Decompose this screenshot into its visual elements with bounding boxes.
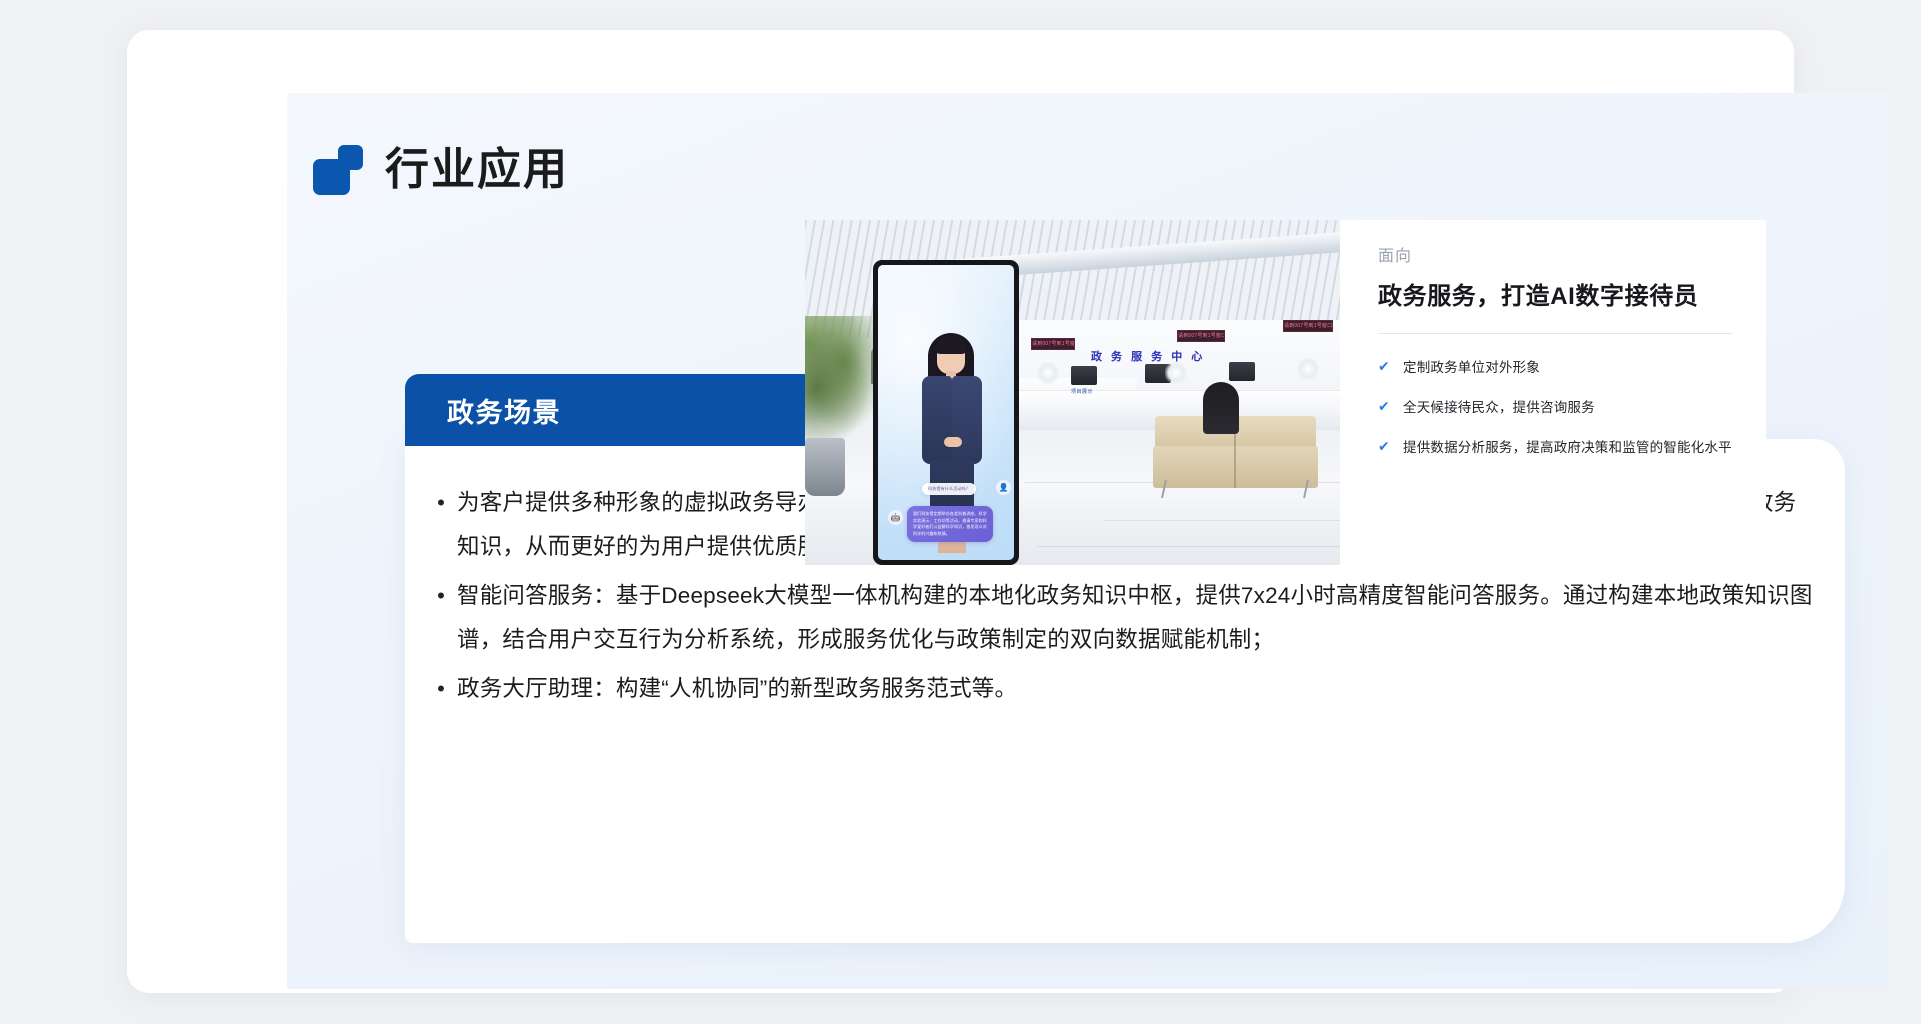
list-item: ✔ 提供数据分析服务，提高政府决策和监管的智能化水平 [1378,436,1732,456]
info-panel: 面向 政务服务，打造AI数字接待员 ✔ 定制政务单位对外形象 ✔ 全天候接待民众… [1340,220,1766,565]
government-hall-photo: 政 务 服 务 中 心 请到007号到1号窗口 请到007号到1号窗口 请到00… [805,220,1340,565]
info-eyebrow: 面向 [1378,242,1732,266]
plant-pot [805,438,845,496]
digital-kiosk: 科技馆有什么活动吗？ 👤 🤖 我们科技馆定期举办各类科普讲座、科学实验演示、工作… [873,260,1019,565]
queue-window-tag: 请到007号到1号窗口 [1031,338,1075,350]
bullet-marker-icon: • [425,574,457,618]
flower-decor [1037,362,1059,386]
info-headline: 政务服务，打造AI数字接待员 [1378,276,1732,311]
feature-text: 定制政务单位对外形象 [1403,356,1540,376]
bullet-marker-icon: • [425,481,457,525]
flower-decor [1165,362,1187,386]
list-item: ✔ 全天候接待民众，提供咨询服务 [1378,396,1732,416]
divider [1378,333,1732,334]
kiosk-screen: 科技馆有什么活动吗？ 👤 🤖 我们科技馆定期举办各类科普讲座、科学实验演示、工作… [878,265,1014,560]
feature-text: 全天候接待民众，提供咨询服务 [1403,396,1595,416]
list-item: • 政务大厅助理：构建“人机协同”的新型政务服务范式等。 [425,667,1815,711]
slide-header: 行业应用 [313,145,569,195]
check-icon: ✔ [1378,438,1394,454]
brand-logo-icon [313,145,363,195]
hall-sign-text: 政 务 服 务 中 心 [1091,348,1205,364]
counter-monitor [1229,362,1255,381]
slide-canvas: 行业应用 政务场景 • 为客户提供多种形象的虚拟政务导办员、虚拟政务咨询员、虚拟… [287,93,1888,989]
counter-monitor [1071,366,1097,385]
floor-seam [1037,546,1340,547]
queue-window-tag: 请到007号到1号窗口 [1283,320,1333,332]
desk-label: 项目展示 [1071,388,1093,395]
app-window: 行业应用 政务场景 • 为客户提供多种形象的虚拟政务导办员、虚拟政务咨询员、虚拟… [127,30,1794,993]
scenario-tab-label: 政务场景 [447,391,561,430]
check-icon: ✔ [1378,398,1394,414]
bullet-marker-icon: • [425,667,457,711]
bot-avatar-icon: 🤖 [888,510,903,525]
plant-leaves [805,316,877,446]
feature-list: ✔ 定制政务单位对外形象 ✔ 全天候接待民众，提供咨询服务 ✔ 提供数据分析服务… [1378,356,1732,456]
user-avatar-icon: 👤 [996,480,1011,495]
chat-bubble-user: 科技馆有什么活动吗？ [922,483,976,495]
seated-visitor [1203,382,1239,434]
flower-decor [1297,358,1319,382]
list-item: • 智能问答服务：基于Deepseek大模型一体机构建的本地化政务知识中枢，提供… [425,574,1815,662]
floor-seam [1105,520,1340,521]
bullet-text: 政务大厅助理：构建“人机协同”的新型政务服务范式等。 [457,667,1017,711]
chat-bubble-bot: 我们科技馆定期举办各类科普讲座、科学实验演示、工作坊等活动，邀请专家和科学爱好者… [907,506,993,542]
queue-window-tag: 请到007号到1号窗口 [1177,330,1225,342]
page-title: 行业应用 [385,148,569,192]
media-block: 政 务 服 务 中 心 请到007号到1号窗口 请到007号到1号窗口 请到00… [805,220,1723,565]
bullet-text: 智能问答服务：基于Deepseek大模型一体机构建的本地化政务知识中枢，提供7x… [457,574,1815,662]
check-icon: ✔ [1378,358,1394,374]
feature-text: 提供数据分析服务，提高政府决策和监管的智能化水平 [1403,436,1732,456]
list-item: ✔ 定制政务单位对外形象 [1378,356,1732,376]
